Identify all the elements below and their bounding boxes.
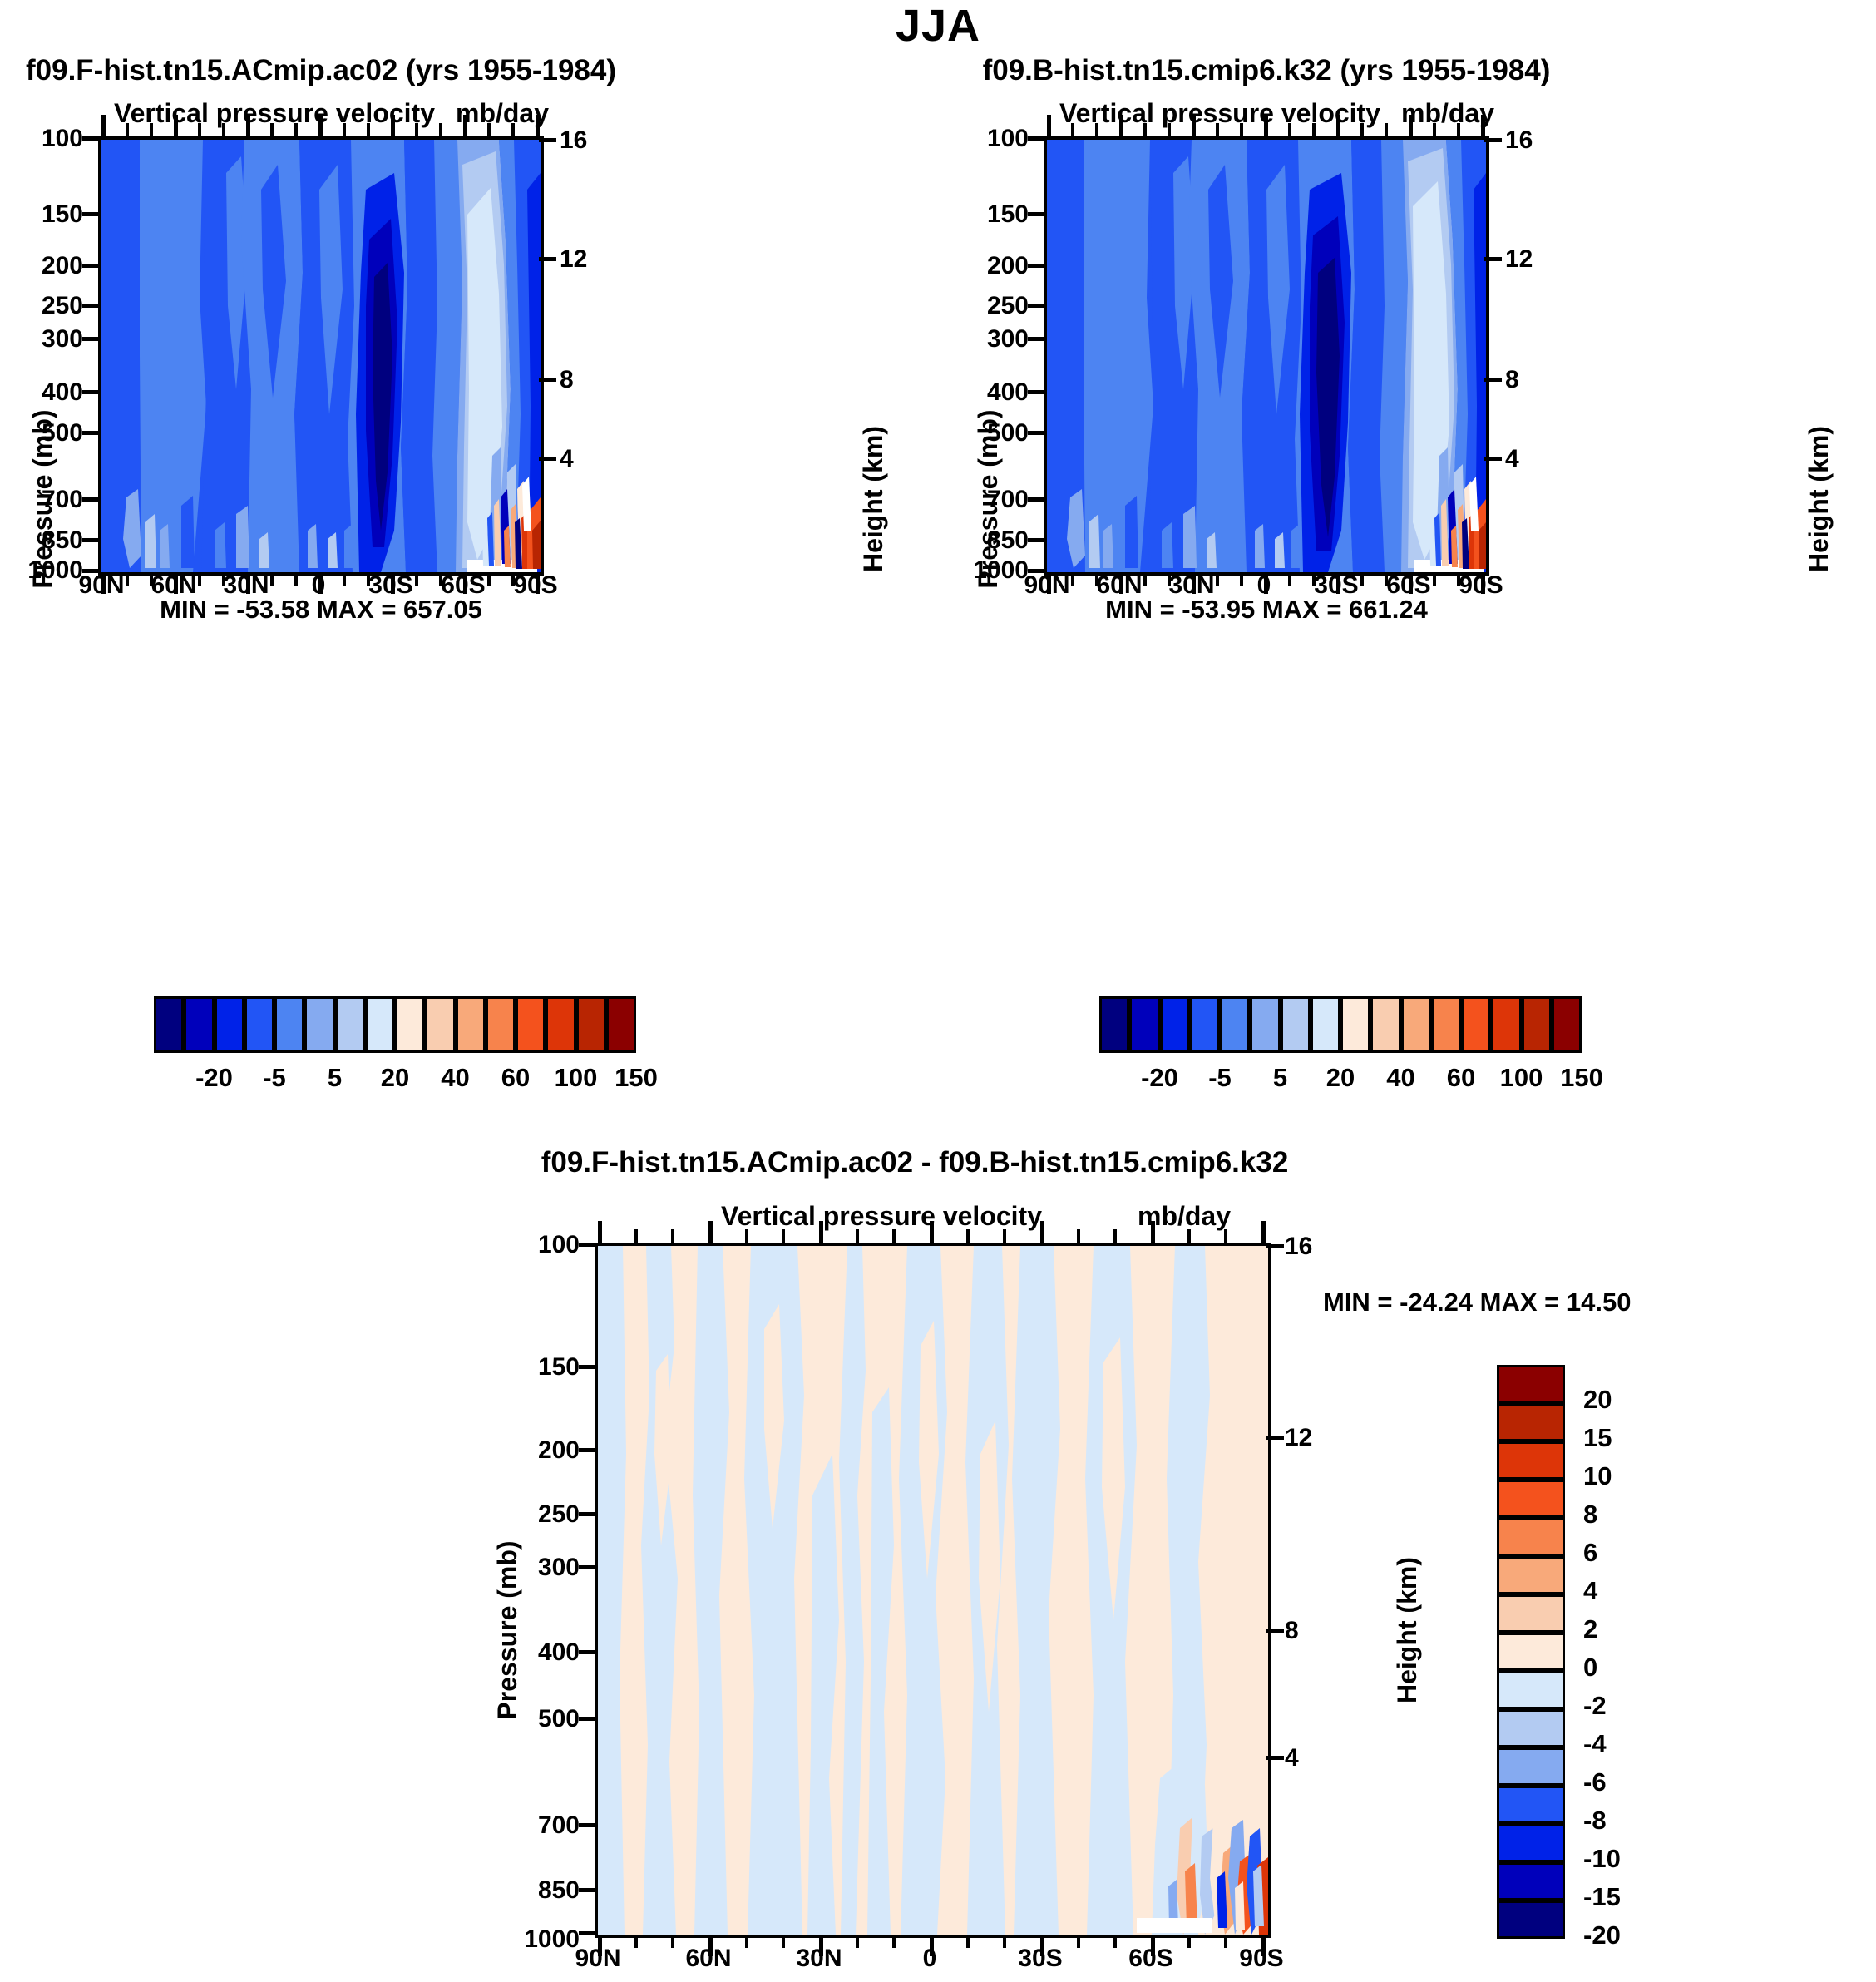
htick-8-top-left: 8 bbox=[560, 366, 574, 394]
colorbar-tick-label: 40 bbox=[441, 1063, 469, 1093]
colorbar-swatch bbox=[1281, 996, 1311, 1053]
colorbar-swatch bbox=[1431, 996, 1461, 1053]
panel-title-top-left: f09.F-hist.tn15.ACmip.ac02 (yrs 1955-198… bbox=[26, 54, 616, 87]
colorbar-swatch bbox=[1311, 996, 1340, 1053]
colorbar-swatch bbox=[304, 996, 334, 1053]
htick-16-top-left: 16 bbox=[560, 126, 587, 155]
ytick-150-bottom-diff: 150 bbox=[538, 1353, 580, 1381]
colorbar-swatch bbox=[215, 996, 244, 1053]
colorbar-tick-label: -20 bbox=[1141, 1063, 1178, 1093]
ytick-200-top-right: 200 bbox=[987, 252, 1029, 280]
ytick-100-top-right: 100 bbox=[987, 125, 1029, 153]
htick-8-bottom-diff: 8 bbox=[1285, 1617, 1299, 1645]
colorbar-swatch bbox=[1461, 996, 1491, 1053]
ytick-1000-top-right: 1000 bbox=[973, 556, 1029, 585]
colorbar-swatch bbox=[1099, 996, 1129, 1053]
ytick-500-top-left: 500 bbox=[42, 419, 83, 447]
htick-16-top-right: 16 bbox=[1505, 126, 1533, 155]
colorbar-swatch bbox=[425, 996, 455, 1053]
htick-4-top-left: 4 bbox=[560, 445, 574, 473]
colorbar-swatch bbox=[1160, 996, 1190, 1053]
colorbar-swatch bbox=[395, 996, 425, 1053]
colorbar-swatch bbox=[1220, 996, 1250, 1053]
ytick-400-top-left: 400 bbox=[42, 378, 83, 407]
colorbar-swatch bbox=[1497, 1518, 1565, 1556]
ytick-100-top-left: 100 bbox=[42, 125, 83, 153]
colorbar-tick-label: -6 bbox=[1583, 1767, 1607, 1797]
colorbar-swatch bbox=[1497, 1709, 1565, 1747]
ytick-400-bottom-diff: 400 bbox=[538, 1638, 580, 1667]
colorbar-tick-label: 5 bbox=[1273, 1063, 1287, 1093]
colorbar-swatch bbox=[606, 996, 636, 1053]
colorbar-horizontal-left bbox=[154, 996, 636, 1053]
colorbar-swatch bbox=[1522, 996, 1552, 1053]
colorbar-swatch bbox=[274, 996, 304, 1053]
colorbar-swatch bbox=[1250, 996, 1280, 1053]
colorbar-swatch bbox=[244, 996, 274, 1053]
colorbar-tick-label: 2 bbox=[1583, 1614, 1597, 1644]
htick-4-top-right: 4 bbox=[1505, 445, 1519, 473]
colorbar-swatch bbox=[335, 996, 365, 1053]
colorbar-swatch bbox=[516, 996, 546, 1053]
colorbar-horizontal-right bbox=[1099, 996, 1582, 1053]
colorbar-tick-label: 6 bbox=[1583, 1538, 1597, 1568]
colorbar-tick-label: 100 bbox=[555, 1063, 598, 1093]
panel-title-bottom-diff: f09.F-hist.tn15.ACmip.ac02 - f09.B-hist.… bbox=[541, 1146, 1289, 1179]
colorbar-tick-label: 20 bbox=[1583, 1385, 1612, 1415]
minmax-top-left: MIN = -53.58 MAX = 657.05 bbox=[160, 595, 482, 625]
panel-variable-name-top-right: Vertical pressure velocity bbox=[1059, 98, 1380, 129]
figure-suptitle: JJA bbox=[896, 0, 980, 52]
ytick-700-top-left: 700 bbox=[42, 486, 83, 514]
colorbar-swatch bbox=[1497, 1747, 1565, 1786]
ytick-150-top-left: 150 bbox=[42, 200, 83, 229]
height-axis-title-bottom-diff: Height (km) bbox=[1392, 1557, 1423, 1703]
colorbar-tick-label: 10 bbox=[1583, 1461, 1612, 1491]
contour-plot-top-right bbox=[1044, 136, 1489, 576]
htick-12-top-left: 12 bbox=[560, 245, 587, 274]
colorbar-swatch bbox=[1497, 1556, 1565, 1594]
colorbar-swatch bbox=[1497, 1441, 1565, 1480]
panel-title-top-right: f09.B-hist.tn15.cmip6.k32 (yrs 1955-1984… bbox=[983, 54, 1551, 87]
colorbar-tick-label: 20 bbox=[1326, 1063, 1355, 1093]
panel-variable-name-top-left: Vertical pressure velocity bbox=[114, 98, 435, 129]
minmax-bottom-diff: MIN = -24.24 MAX = 14.50 bbox=[1323, 1288, 1631, 1317]
colorbar-tick-label: -20 bbox=[1583, 1920, 1621, 1950]
colorbar-swatch bbox=[1497, 1900, 1565, 1939]
colorbar-tick-label: 5 bbox=[328, 1063, 342, 1093]
ytick-500-top-right: 500 bbox=[987, 419, 1029, 447]
htick-16-bottom-diff: 16 bbox=[1285, 1233, 1312, 1261]
colorbar-swatch bbox=[1190, 996, 1220, 1053]
figure-canvas: JJA f09.F-hist.tn15.ACmip.ac02 (yrs 1955… bbox=[0, 0, 1876, 1982]
ytick-250-bottom-diff: 250 bbox=[538, 1500, 580, 1529]
colorbar-tick-label: -2 bbox=[1583, 1691, 1607, 1721]
colorbar-swatch bbox=[1497, 1594, 1565, 1633]
colorbar-tick-label: -5 bbox=[1208, 1063, 1232, 1093]
colorbar-swatch bbox=[184, 996, 214, 1053]
colorbar-swatch bbox=[576, 996, 606, 1053]
height-axis-title-top-right: Height (km) bbox=[1804, 426, 1834, 572]
colorbar-swatch bbox=[1552, 996, 1582, 1053]
htick-8-top-right: 8 bbox=[1505, 366, 1519, 394]
colorbar-swatch bbox=[1401, 996, 1431, 1053]
colorbar-swatch bbox=[365, 996, 395, 1053]
ytick-250-top-right: 250 bbox=[987, 292, 1029, 320]
ytick-700-top-right: 700 bbox=[987, 486, 1029, 514]
colorbar-tick-label: 8 bbox=[1583, 1500, 1597, 1530]
colorbar-swatch bbox=[1497, 1786, 1565, 1824]
htick-12-top-right: 12 bbox=[1505, 245, 1533, 274]
colorbar-tick-label: 150 bbox=[615, 1063, 658, 1093]
colorbar-swatch bbox=[1129, 996, 1159, 1053]
contour-plot-top-left bbox=[98, 136, 544, 576]
colorbar-horizontal-left-labels: -20-55204060100150 bbox=[154, 1063, 636, 1096]
ytick-150-top-right: 150 bbox=[987, 200, 1029, 229]
ytick-300-bottom-diff: 300 bbox=[538, 1554, 580, 1582]
colorbar-tick-label: -8 bbox=[1583, 1806, 1607, 1836]
minmax-top-right: MIN = -53.95 MAX = 661.24 bbox=[1105, 595, 1428, 625]
colorbar-horizontal-right-labels: -20-55204060100150 bbox=[1099, 1063, 1582, 1096]
colorbar-swatch bbox=[1497, 1403, 1565, 1441]
ytick-300-top-right: 300 bbox=[987, 325, 1029, 353]
colorbar-swatch bbox=[1497, 1480, 1565, 1518]
colorbar-swatch bbox=[1370, 996, 1400, 1053]
ytick-850-top-left: 850 bbox=[42, 526, 83, 555]
colorbar-tick-label: 15 bbox=[1583, 1423, 1612, 1453]
colorbar-swatch bbox=[1491, 996, 1521, 1053]
panel-variable-name-bottom-diff: Vertical pressure velocity bbox=[721, 1201, 1042, 1232]
colorbar-swatch bbox=[1497, 1365, 1565, 1403]
ytick-700-bottom-diff: 700 bbox=[538, 1811, 580, 1840]
colorbar-tick-label: -20 bbox=[195, 1063, 233, 1093]
ytick-850-top-right: 850 bbox=[987, 526, 1029, 555]
colorbar-vertical-diff bbox=[1497, 1365, 1565, 1939]
colorbar-tick-label: -4 bbox=[1583, 1729, 1607, 1759]
htick-4-bottom-diff: 4 bbox=[1285, 1744, 1299, 1772]
colorbar-swatch bbox=[1497, 1862, 1565, 1900]
ytick-1000-top-left: 1000 bbox=[27, 556, 83, 585]
ytick-250-top-left: 250 bbox=[42, 292, 83, 320]
ytick-1000-bottom-diff: 1000 bbox=[524, 1925, 580, 1954]
colorbar-swatch bbox=[546, 996, 575, 1053]
ytick-200-bottom-diff: 200 bbox=[538, 1436, 580, 1465]
colorbar-tick-label: 20 bbox=[381, 1063, 409, 1093]
contour-plot-bottom-diff bbox=[595, 1243, 1271, 1938]
colorbar-tick-label: 150 bbox=[1560, 1063, 1603, 1093]
colorbar-swatch bbox=[154, 996, 184, 1053]
colorbar-swatch bbox=[1497, 1824, 1565, 1862]
colorbar-tick-label: -5 bbox=[263, 1063, 286, 1093]
ytick-100-bottom-diff: 100 bbox=[538, 1231, 580, 1259]
colorbar-tick-label: -15 bbox=[1583, 1882, 1621, 1912]
colorbar-tick-label: 60 bbox=[501, 1063, 530, 1093]
colorbar-swatch bbox=[456, 996, 486, 1053]
colorbar-tick-label: 0 bbox=[1583, 1653, 1597, 1683]
colorbar-vertical-diff-labels: 20151086420-2-4-6-8-10-15-20 bbox=[1573, 1365, 1690, 1939]
ytick-200-top-left: 200 bbox=[42, 252, 83, 280]
htick-12-bottom-diff: 12 bbox=[1285, 1424, 1312, 1452]
colorbar-swatch bbox=[1497, 1671, 1565, 1709]
colorbar-tick-label: 100 bbox=[1500, 1063, 1543, 1093]
colorbar-tick-label: 4 bbox=[1583, 1576, 1597, 1606]
height-axis-title-top-left: Height (km) bbox=[858, 426, 889, 572]
colorbar-swatch bbox=[1340, 996, 1370, 1053]
colorbar-swatch bbox=[1497, 1633, 1565, 1671]
pressure-axis-title-bottom-diff: Pressure (mb) bbox=[492, 1540, 523, 1719]
colorbar-swatch bbox=[486, 996, 516, 1053]
ytick-400-top-right: 400 bbox=[987, 378, 1029, 407]
colorbar-tick-label: 40 bbox=[1386, 1063, 1414, 1093]
colorbar-tick-label: 60 bbox=[1447, 1063, 1475, 1093]
ytick-850-bottom-diff: 850 bbox=[538, 1876, 580, 1905]
colorbar-tick-label: -10 bbox=[1583, 1844, 1621, 1874]
ytick-300-top-left: 300 bbox=[42, 325, 83, 353]
ytick-500-bottom-diff: 500 bbox=[538, 1705, 580, 1733]
